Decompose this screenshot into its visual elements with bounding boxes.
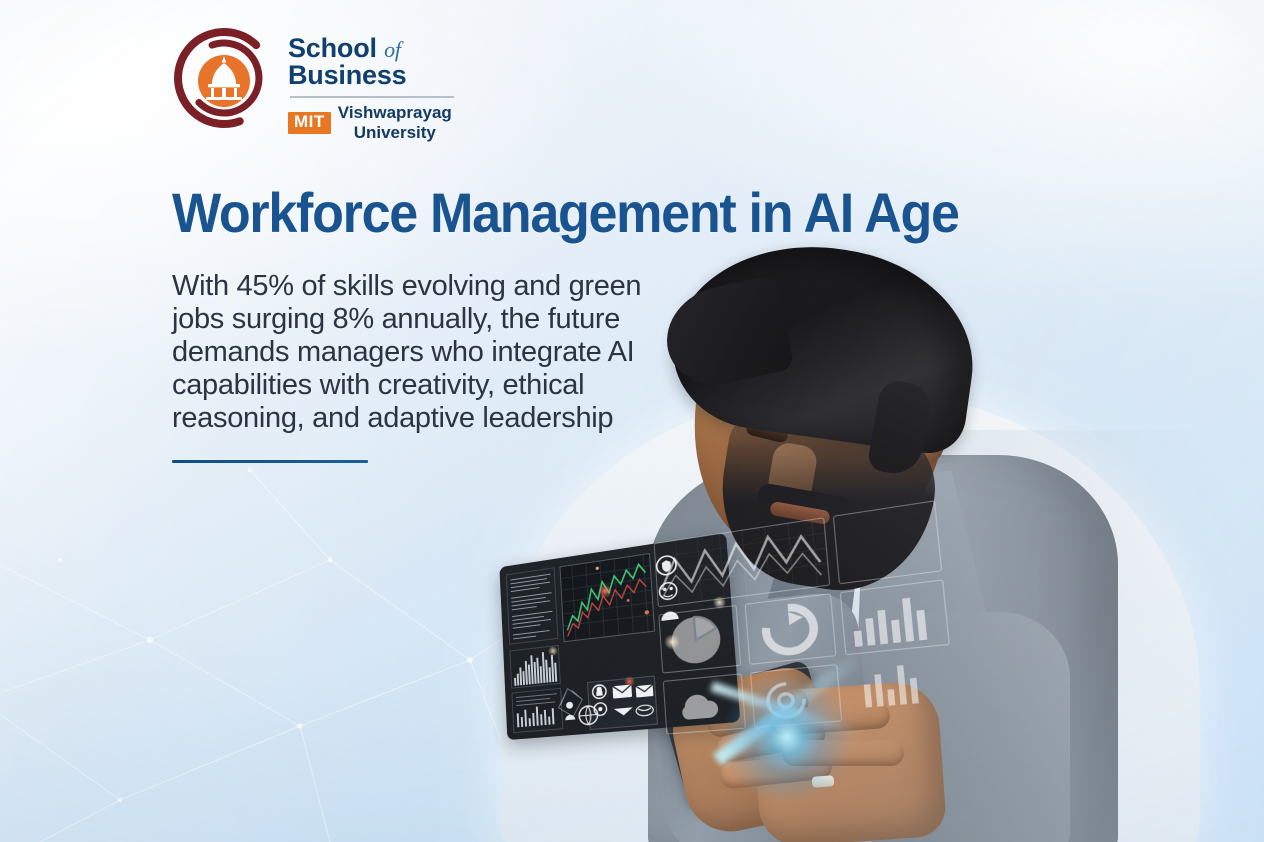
histogram-bar-panel <box>510 645 560 688</box>
brand-university-line: MIT Vishwaprayag University <box>288 103 454 143</box>
small-bar-chart <box>862 664 919 708</box>
brand-divider <box>290 96 454 98</box>
page-title: Workforce Management in AI Age <box>172 184 959 241</box>
pie-chart <box>670 614 722 666</box>
candlestick-line-chart <box>560 554 655 642</box>
brand-school-line: School of <box>288 34 454 62</box>
brand-business-line: Business <box>288 61 454 89</box>
hologram-light-source <box>722 672 852 802</box>
page-subtitle: With 45% of skills evolving and green jo… <box>172 270 652 435</box>
brand-school-word: School <box>288 33 377 63</box>
brand-logo-lockup[interactable]: School of Business MIT Vishwaprayag Univ… <box>172 26 454 143</box>
poster-canvas: School of Business MIT Vishwaprayag Univ… <box>0 0 1264 842</box>
university-name-line1: Vishwaprayag <box>338 103 452 122</box>
university-name: Vishwaprayag University <box>338 103 452 143</box>
cloud-icon <box>681 693 719 720</box>
mit-badge: MIT <box>288 112 331 134</box>
brand-of-word: of <box>384 37 401 62</box>
text-block-panel <box>506 568 558 644</box>
icon-grid <box>588 676 658 730</box>
university-name-line2: University <box>338 123 452 143</box>
bar-chart <box>851 596 927 647</box>
accent-divider <box>172 460 368 463</box>
donut-chart <box>764 605 815 654</box>
text-bars-panel <box>512 688 563 732</box>
mit-vishwaprayag-crest-icon <box>172 26 276 130</box>
brand-wordmark: School of Business MIT Vishwaprayag Univ… <box>288 26 454 143</box>
